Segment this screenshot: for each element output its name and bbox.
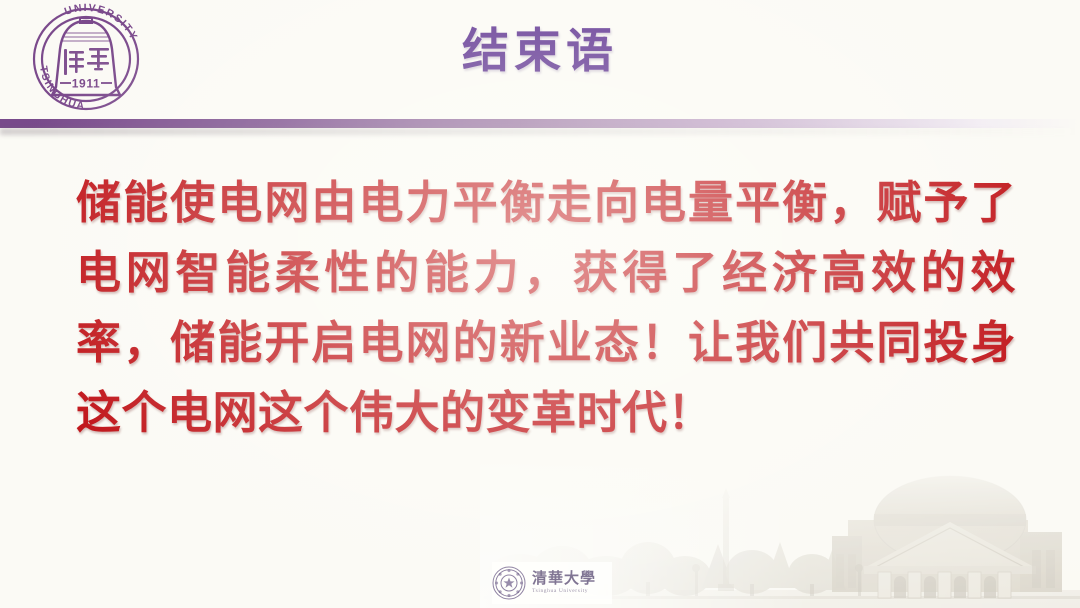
brand-name-cn: 清華大學 xyxy=(532,571,596,586)
brand-name-en: Tsinghua University xyxy=(532,589,596,595)
divider-shadow xyxy=(0,128,1080,135)
slide: UNIVERSITY TSINGHUA xyxy=(0,0,1080,608)
divider-bar xyxy=(0,119,1080,128)
brand-wordmark: 清華大學 Tsinghua University xyxy=(532,571,596,595)
body-paragraph: 储能使电网由电力平衡走向电量平衡，赋予了电网智能柔性的能力，获得了经济高效的效率… xyxy=(76,168,1016,448)
page-title: 结束语 xyxy=(0,26,1080,78)
brand-lockup: 清華大學 Tsinghua University xyxy=(492,562,612,604)
svg-text:1911: 1911 xyxy=(72,77,100,91)
slide-header: UNIVERSITY TSINGHUA xyxy=(0,0,1080,124)
header-divider xyxy=(0,119,1080,135)
tsinghua-circular-seal-icon xyxy=(492,566,526,600)
